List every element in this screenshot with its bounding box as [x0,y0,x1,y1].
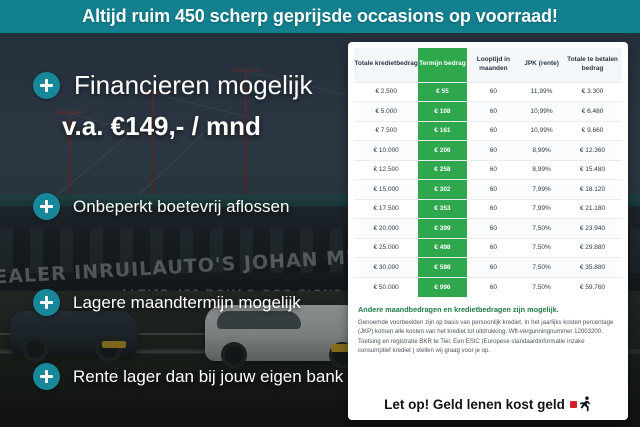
table-column-header: Totale kredietbedrag [354,48,418,82]
table-cell: € 10.000 [354,141,418,161]
loan-warning-logo [570,396,592,412]
table-cell: € 996 [418,277,466,297]
table-cell: € 7.500 [354,121,418,141]
loan-warning-text: Let op! Geld lenen kost geld [384,397,565,412]
table-cell: 60 [467,102,521,122]
table-cell: € 15.480 [563,160,622,180]
table-row: € 25.000€ 498607,50%€ 29.880 [354,238,622,258]
table-cell: € 353 [418,199,466,219]
feature-item-maandtermijn: Lagere maandtermijn mogelijk [33,289,301,316]
table-cell: 60 [467,199,521,219]
table-cell: € 258 [418,160,466,180]
table-column-header: Termijn bedrag [418,48,466,82]
promo-banner-image: EALER INRUILAUTO'S JOHAN MEURE ALTIJD 45… [0,0,640,427]
table-cell: 60 [467,141,521,161]
table-cell: € 50.000 [354,277,418,297]
banner-headline: Altijd ruim 450 scherp geprijsde occasio… [82,6,558,27]
table-cell: € 6.480 [563,102,622,122]
table-cell: 7,50% [520,258,563,278]
feature-item-aflossen: Onbeperkt boetevrij aflossen [33,193,289,220]
disclaimer-title: Andere maandbedragen en kredietbedragen … [358,305,618,314]
disclaimer-body: Genoemde voorbeelden zijn op basis van p… [358,318,618,356]
table-cell: 8,99% [520,141,563,161]
table-row: € 30.000€ 598607,50%€ 35.880 [354,258,622,278]
table-row: € 10.000€ 206608,99%€ 12.360 [354,141,622,161]
table-cell: 11,99% [520,82,563,102]
disclaimer-block: Andere maandbedragen en kredietbedragen … [348,299,628,356]
plus-icon [33,72,60,99]
table-cell: 8,99% [520,160,563,180]
table-cell: € 15.000 [354,180,418,200]
table-cell: € 18.120 [563,180,622,200]
table-cell: 10,99% [520,121,563,141]
table-cell: € 17.500 [354,199,418,219]
credit-table-card: Totale kredietbedragTermijn bedragLoopti… [348,42,628,420]
table-cell: € 23.940 [563,219,622,239]
table-cell: 60 [467,238,521,258]
top-banner: Altijd ruim 450 scherp geprijsde occasio… [0,0,640,33]
table-cell: 60 [467,277,521,297]
loan-warning: Let op! Geld lenen kost geld [348,390,628,420]
table-head: Totale kredietbedragTermijn bedragLoopti… [354,48,622,82]
table-cell: 7,50% [520,277,563,297]
plus-icon [33,363,60,390]
table-cell: 60 [467,82,521,102]
table-header-row: Totale kredietbedragTermijn bedragLoopti… [354,48,622,82]
table-row: € 17.500€ 353607,99%€ 21.180 [354,199,622,219]
table-column-header: Totale te betalen bedrag [563,48,622,82]
red-block-icon [570,401,577,408]
table-cell: 60 [467,258,521,278]
table-row: € 20.000€ 399607,50%€ 23.940 [354,219,622,239]
table-cell: 7,50% [520,238,563,258]
table-row: € 2.500€ 556011,99%€ 3.300 [354,82,622,102]
feature-headline-line1: Financieren mogelijk [74,72,312,99]
table-cell: 7,99% [520,199,563,219]
table-column-header: JPK (rente) [520,48,563,82]
table-cell: € 5.000 [354,102,418,122]
running-person-icon [578,396,592,412]
feature-label: Lagere maandtermijn mogelijk [73,293,301,313]
table-cell: € 108 [418,102,466,122]
table-cell: € 2.500 [354,82,418,102]
table-cell: € 598 [418,258,466,278]
plus-icon [33,193,60,220]
table-cell: € 20.000 [354,219,418,239]
credit-table: Totale kredietbedragTermijn bedragLoopti… [354,48,622,297]
table-cell: 7,99% [520,180,563,200]
table-cell: € 399 [418,219,466,239]
plus-icon [33,289,60,316]
table-cell: € 59.760 [563,277,622,297]
table-cell: € 21.180 [563,199,622,219]
feature-item-rente: Rente lager dan bij jouw eigen bank [33,363,343,390]
table-row: € 5.000€ 1086010,99%€ 6.480 [354,102,622,122]
feature-label: Rente lager dan bij jouw eigen bank [73,367,343,387]
table-row: € 7.500€ 1616010,99%€ 9.660 [354,121,622,141]
table-cell: € 3.300 [563,82,622,102]
feature-list: Financieren mogelijk v.a. €149,- / mnd O… [0,33,348,427]
table-cell: 60 [467,180,521,200]
feature-headline-line2: v.a. €149,- / mnd [62,111,261,142]
table-cell: € 9.660 [563,121,622,141]
table-cell: 60 [467,121,521,141]
table-cell: € 29.880 [563,238,622,258]
table-cell: € 498 [418,238,466,258]
table-row: € 12.500€ 258608,99%€ 15.480 [354,160,622,180]
table-row: € 15.000€ 302607,99%€ 18.120 [354,180,622,200]
table-cell: 60 [467,219,521,239]
feature-label: Onbeperkt boetevrij aflossen [73,197,289,217]
table-cell: € 35.880 [563,258,622,278]
table-cell: 7,50% [520,219,563,239]
table-cell: € 12.500 [354,160,418,180]
table-cell: € 161 [418,121,466,141]
table-cell: 10,99% [520,102,563,122]
feature-item-financiering: Financieren mogelijk [33,72,312,99]
table-cell: € 25.000 [354,238,418,258]
table-cell: € 30.000 [354,258,418,278]
table-cell: € 55 [418,82,466,102]
table-row: € 50.000€ 996607,50%€ 59.760 [354,277,622,297]
table-cell: € 206 [418,141,466,161]
table-column-header: Looptijd in maanden [467,48,521,82]
table-body: € 2.500€ 556011,99%€ 3.300€ 5.000€ 10860… [354,82,622,297]
table-cell: € 302 [418,180,466,200]
table-container: Totale kredietbedragTermijn bedragLoopti… [348,42,628,299]
table-cell: 60 [467,160,521,180]
table-cell: € 12.360 [563,141,622,161]
